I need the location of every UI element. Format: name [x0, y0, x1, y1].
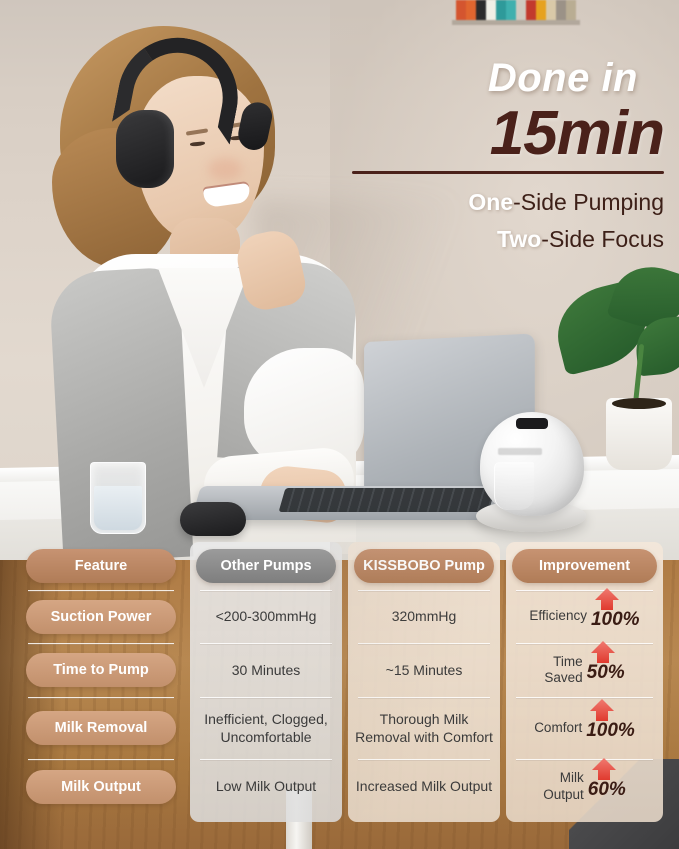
- improvement-percent: 100%: [591, 609, 640, 630]
- improvement-percent: 60%: [588, 779, 626, 800]
- other-removal-value: Inefficient, Clogged, Uncomfortable: [196, 710, 336, 746]
- improvement-label: Comfort: [534, 720, 582, 736]
- subline-2-rest: -Side Focus: [541, 226, 664, 252]
- headline-underline: [352, 171, 664, 174]
- column-kissbobo-pump: KISSBOBO Pump 320mmHg ~15 Minutes Thorou…: [348, 542, 500, 822]
- subline-1-rest: -Side Pumping: [513, 189, 664, 215]
- improvement-percent: 50%: [587, 662, 625, 683]
- table-cell: Low Milk Output: [190, 759, 342, 814]
- improvement-label: Efficiency: [529, 608, 587, 624]
- feature-cell: Milk Removal: [18, 697, 184, 759]
- improvement-label: Milk Output: [543, 770, 584, 802]
- cheek: [208, 158, 242, 180]
- table-cell: <200-300mmHg: [190, 590, 342, 643]
- feature-pill-time: Time to Pump: [26, 653, 176, 687]
- improvement-value: 100%: [591, 603, 640, 631]
- table-cell: Efficiency 100%: [506, 590, 663, 643]
- other-header-pill: Other Pumps: [196, 549, 336, 583]
- subline-1-highlight: One: [468, 189, 513, 215]
- comparison-table: Feature Suction Power Time to Pump Milk …: [18, 542, 663, 822]
- column-improvement: Improvement Efficiency 100%: [506, 542, 663, 822]
- headphone-earcup: [116, 110, 174, 188]
- headline-done-in: Done in: [352, 58, 664, 98]
- water-level: [94, 486, 142, 530]
- up-arrow-icon: [592, 758, 616, 780]
- improvement-value: 100%: [586, 714, 635, 742]
- other-time-value: 30 Minutes: [232, 661, 300, 680]
- table-cell: 320mmHg: [348, 590, 500, 643]
- other-output-value: Low Milk Output: [216, 777, 316, 796]
- table-cell: Thorough Milk Removal with Comfort: [348, 697, 500, 759]
- feature-cell: Suction Power: [18, 590, 184, 643]
- table-cell: Increased Milk Output: [348, 759, 500, 814]
- pump-flange: [494, 462, 534, 510]
- feature-pill-removal: Milk Removal: [26, 711, 176, 745]
- computer-mouse: [180, 502, 246, 536]
- headline-block: Done in 15min One-Side Pumping Two-Side …: [352, 58, 664, 259]
- poster-canvas: Done in 15min One-Side Pumping Two-Side …: [0, 0, 679, 849]
- laptop-keyboard: [279, 488, 496, 512]
- headline-subline-2: Two-Side Focus: [352, 221, 664, 258]
- kissbobo-header-pill: KISSBOBO Pump: [354, 549, 494, 583]
- kissbobo-time-value: ~15 Minutes: [386, 661, 463, 680]
- plant-soil: [612, 398, 666, 409]
- improvement-efficiency: Efficiency 100%: [529, 603, 639, 631]
- feature-header-pill: Feature: [26, 549, 176, 583]
- improvement-percent: 100%: [586, 720, 635, 741]
- headline-15min: 15min: [352, 102, 664, 165]
- up-arrow-icon: [590, 699, 614, 721]
- header-cell-kissbobo: KISSBOBO Pump: [348, 542, 500, 590]
- improvement-header-pill: Improvement: [512, 549, 657, 583]
- up-arrow-icon: [591, 641, 615, 663]
- feature-pill-output: Milk Output: [26, 770, 176, 804]
- pump-display-icon: [516, 418, 548, 429]
- table-cell: Inefficient, Clogged, Uncomfortable: [190, 697, 342, 759]
- pump-logo: [498, 448, 542, 455]
- feature-pill-suction: Suction Power: [26, 600, 176, 634]
- table-cell: Time Saved 50%: [506, 643, 663, 697]
- table-cell: Milk Output 60%: [506, 759, 663, 814]
- header-cell-other: Other Pumps: [190, 542, 342, 590]
- improvement-comfort: Comfort 100%: [534, 714, 635, 742]
- kissbobo-removal-value: Thorough Milk Removal with Comfort: [354, 710, 494, 746]
- column-other-pumps: Other Pumps <200-300mmHg 30 Minutes Inef…: [190, 542, 342, 822]
- table-cell: ~15 Minutes: [348, 643, 500, 697]
- header-cell-feature: Feature: [18, 542, 184, 590]
- header-cell-improvement: Improvement: [506, 542, 663, 590]
- woman-subject: [8, 18, 338, 538]
- other-suction-value: <200-300mmHg: [216, 607, 317, 626]
- headline-subline-1: One-Side Pumping: [352, 184, 664, 221]
- column-feature: Feature Suction Power Time to Pump Milk …: [18, 542, 184, 822]
- table-cell: Comfort 100%: [506, 697, 663, 759]
- up-arrow-icon: [595, 588, 619, 610]
- kissbobo-output-value: Increased Milk Output: [356, 777, 492, 796]
- bookshelf: [456, 0, 576, 22]
- improvement-label: Time Saved: [544, 654, 582, 686]
- shelf-board: [452, 20, 580, 25]
- subline-2-highlight: Two: [497, 226, 541, 252]
- table-cell: 30 Minutes: [190, 643, 342, 697]
- feature-cell: Time to Pump: [18, 643, 184, 697]
- kissbobo-suction-value: 320mmHg: [392, 607, 457, 626]
- improvement-milk-output: Milk Output 60%: [543, 770, 626, 802]
- improvement-time-saved: Time Saved 50%: [544, 654, 624, 686]
- feature-cell: Milk Output: [18, 759, 184, 814]
- improvement-value: 60%: [588, 773, 626, 801]
- improvement-value: 50%: [587, 656, 625, 684]
